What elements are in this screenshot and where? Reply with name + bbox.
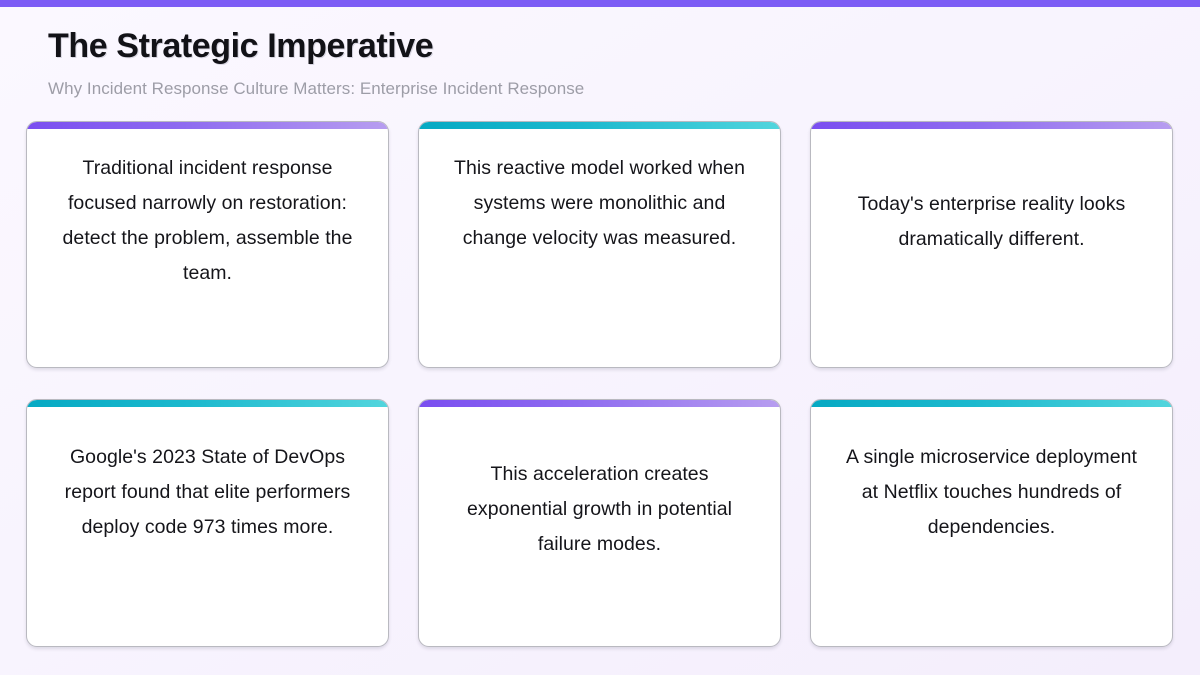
card-text-4: Google's 2023 State of DevOps report fou… bbox=[27, 400, 388, 545]
top-accent-bar bbox=[0, 0, 1200, 7]
card-accent-bar-purple bbox=[419, 400, 780, 407]
card-accent-bar-teal bbox=[419, 122, 780, 129]
card-accent-bar-teal bbox=[27, 400, 388, 407]
card-accent-bar-teal bbox=[811, 400, 1172, 407]
content-card-4[interactable]: Google's 2023 State of DevOps report fou… bbox=[26, 399, 389, 647]
slide-root: The Strategic Imperative Why Incident Re… bbox=[0, 0, 1200, 675]
content-card-6[interactable]: A single microservice deployment at Netf… bbox=[810, 399, 1173, 647]
card-text-6: A single microservice deployment at Netf… bbox=[811, 400, 1172, 545]
card-accent-bar-purple bbox=[811, 122, 1172, 129]
card-grid: Traditional incident response focused na… bbox=[26, 121, 1174, 647]
content-card-2[interactable]: This reactive model worked when systems … bbox=[418, 121, 781, 368]
card-text-3: Today's enterprise reality looks dramati… bbox=[811, 122, 1172, 257]
content-card-3[interactable]: Today's enterprise reality looks dramati… bbox=[810, 121, 1173, 368]
content-card-5[interactable]: This acceleration creates exponential gr… bbox=[418, 399, 781, 647]
card-text-2: This reactive model worked when systems … bbox=[419, 122, 780, 256]
content-card-1[interactable]: Traditional incident response focused na… bbox=[26, 121, 389, 368]
card-text-1: Traditional incident response focused na… bbox=[27, 122, 388, 291]
card-accent-bar-purple bbox=[27, 122, 388, 129]
page-title: The Strategic Imperative bbox=[48, 28, 1200, 65]
page-subtitle: Why Incident Response Culture Matters: E… bbox=[48, 79, 1200, 99]
slide-header: The Strategic Imperative Why Incident Re… bbox=[0, 7, 1200, 100]
card-text-5: This acceleration creates exponential gr… bbox=[419, 400, 780, 562]
